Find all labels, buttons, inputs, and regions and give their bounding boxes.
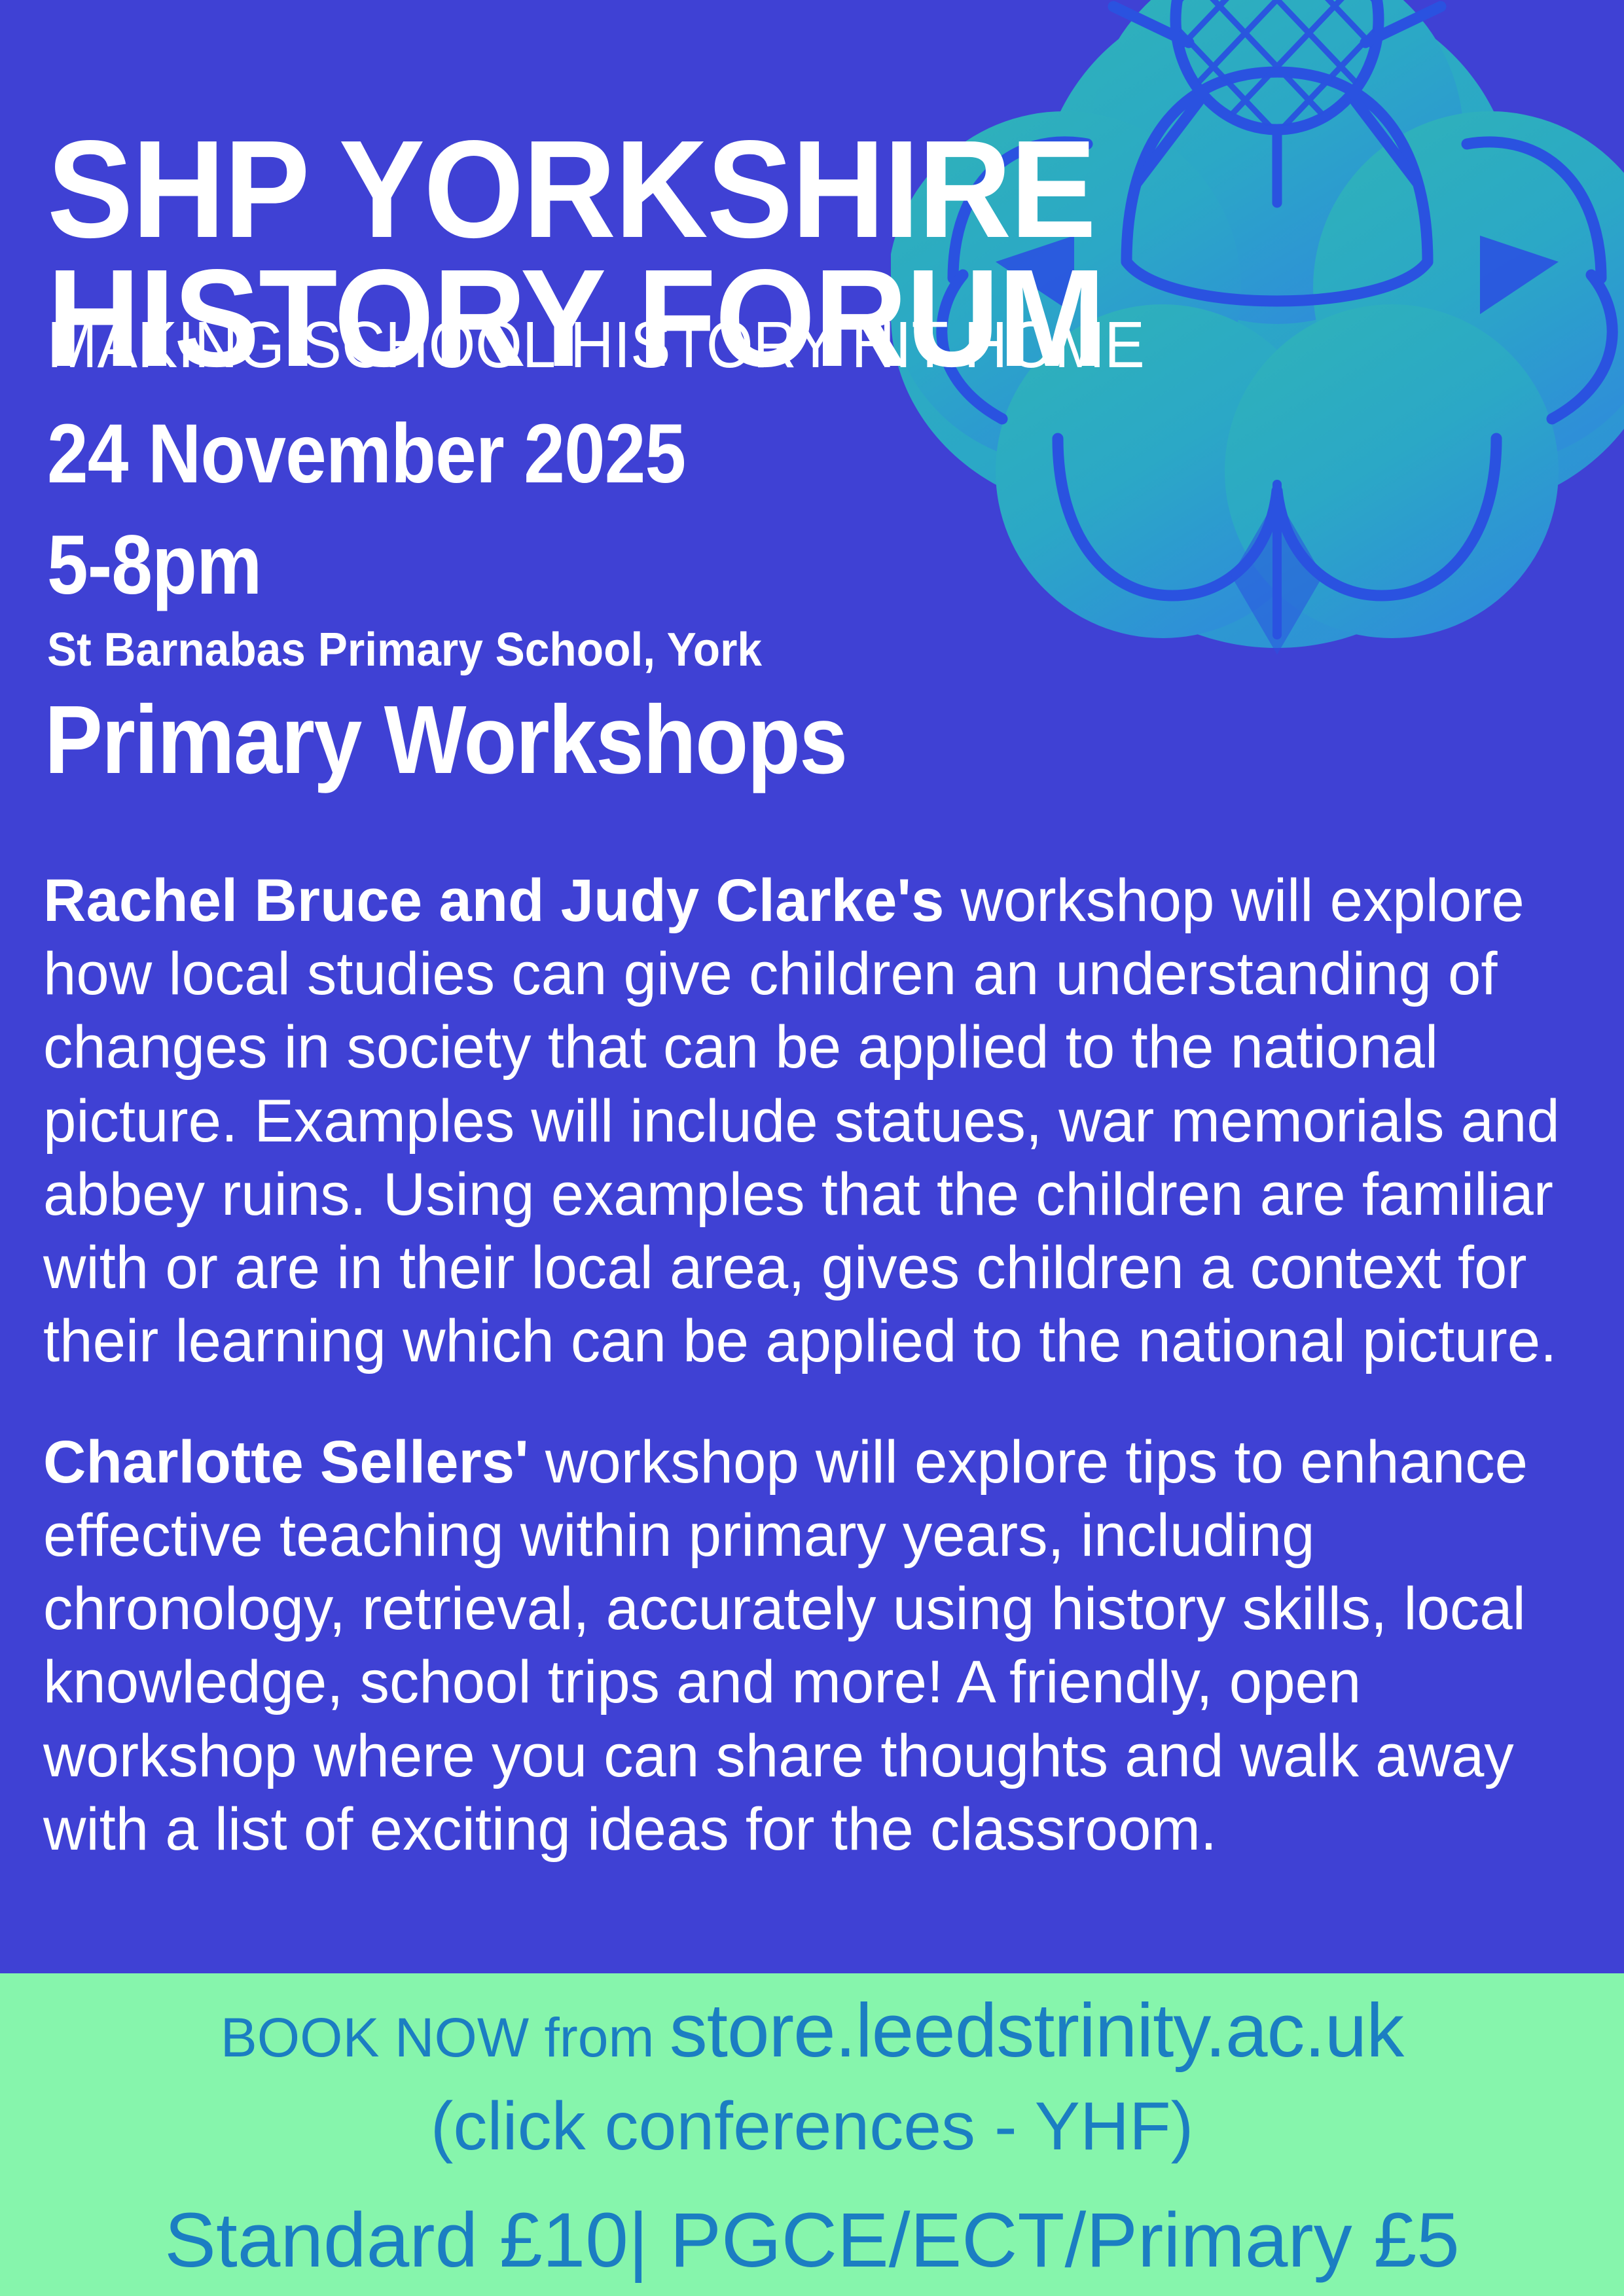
session-title: Primary Workshops — [45, 685, 846, 796]
booking-line: BOOK NOW from store.leedstrinity.ac.uk — [0, 1986, 1624, 2074]
tagline: MAKING SCHOOL HISTORY HIT HOME — [47, 308, 1145, 383]
workshop-paragraph: Rachel Bruce and Judy Clarke's workshop … — [43, 864, 1591, 1378]
event-venue: St Barnabas Primary School, York — [47, 623, 762, 677]
main-content-area: SHP YORKSHIRE HISTORY FORUM MAKING SCHOO… — [0, 0, 1624, 1973]
workshop-presenter: Rachel Bruce and Judy Clarke's — [43, 867, 944, 934]
event-date: 24 November 2025 — [47, 406, 685, 502]
workshop-descriptions: Rachel Bruce and Judy Clarke's workshop … — [43, 864, 1614, 1866]
booking-url[interactable]: store.leedstrinity.ac.uk — [670, 1988, 1403, 2073]
workshop-body-text: workshop will explore how local studies … — [43, 867, 1560, 1374]
booking-instruction: (click conferences - YHF) — [0, 2088, 1624, 2166]
workshop-paragraph: Charlotte Sellers' workshop will explore… — [43, 1426, 1591, 1866]
event-poster: SHP YORKSHIRE HISTORY FORUM MAKING SCHOO… — [0, 0, 1624, 2296]
book-now-label: BOOK NOW from — [221, 2007, 670, 2068]
pricing-info: Standard £10| PGCE/ECT/Primary £5 — [0, 2196, 1624, 2285]
workshop-presenter: Charlotte Sellers' — [43, 1429, 529, 1496]
event-time: 5-8pm — [47, 517, 261, 613]
booking-footer: BOOK NOW from store.leedstrinity.ac.uk (… — [0, 1973, 1624, 2296]
